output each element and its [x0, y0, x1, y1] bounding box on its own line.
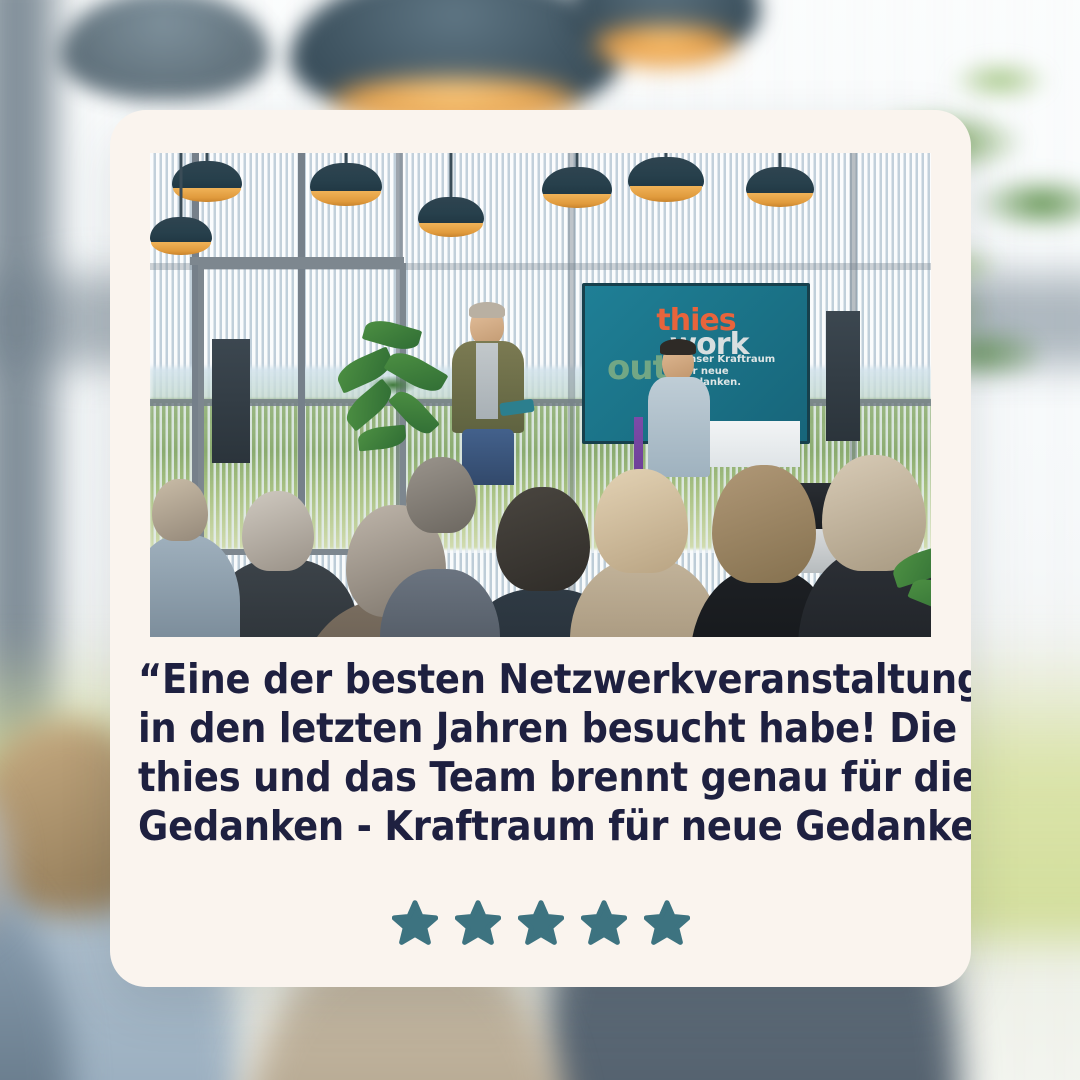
background-lamp-3 — [60, 0, 270, 100]
audience-head — [406, 457, 476, 533]
quote-line-4: Gedanken - Kraftraum für neue Gedanken!” — [138, 802, 943, 851]
audience-head — [152, 479, 208, 541]
lamp-rod — [180, 153, 183, 219]
audience-head — [822, 455, 926, 571]
lamp-rim-light — [419, 223, 482, 237]
lamp-glow — [593, 26, 737, 67]
quote-line-3: thies und das Team brennt genau für dies… — [138, 753, 943, 802]
photo-lamp — [310, 163, 382, 213]
photo-lamp — [150, 217, 212, 261]
photo-door-header — [190, 257, 404, 265]
presenter-hair — [660, 339, 696, 355]
photo-audience — [150, 439, 931, 637]
star-icon — [455, 900, 501, 946]
star-icon — [644, 900, 690, 946]
testimonial-card: thies work out Unser Kraftraum für neue … — [110, 110, 971, 987]
lamp-rod — [450, 153, 453, 197]
plant-leaf — [362, 316, 422, 355]
quote-line-2: in den letzten Jahren besucht habe! Die … — [138, 704, 943, 753]
star-icon — [518, 900, 564, 946]
lamp-rim-light — [311, 191, 380, 206]
testimonial-card-stage: thies work out Unser Kraftraum für neue … — [0, 0, 1080, 1080]
photo-lamp — [418, 197, 484, 243]
testimonial-quote: “Eine der besten Netzwerkveranstaltung, … — [110, 655, 971, 851]
audience-head — [242, 491, 314, 571]
star-icon — [392, 900, 438, 946]
photo-lamp — [746, 167, 814, 214]
quote-line-1: “Eine der besten Netzwerkveranstaltung, … — [138, 655, 943, 704]
lamp-rim-light — [151, 242, 211, 255]
photo-plant — [328, 315, 458, 455]
lamp-rim-light — [173, 188, 240, 202]
audience-shoulders — [150, 535, 240, 637]
audience-head — [594, 469, 688, 573]
photo-lamp — [542, 167, 612, 215]
photo-speaker-box — [826, 311, 860, 441]
presenter-shirt — [476, 343, 498, 419]
lamp-rim-light — [630, 186, 703, 202]
audience-head — [496, 487, 590, 591]
lamp-rim-light — [747, 193, 812, 207]
plant-leaf — [384, 346, 449, 399]
presenter-hair — [469, 302, 505, 318]
star-rating — [110, 900, 971, 946]
star-icon — [581, 900, 627, 946]
photo-lamp — [628, 157, 704, 209]
photo-lamp — [172, 161, 242, 209]
audience-head — [712, 465, 816, 583]
background-lamp-2 — [570, 0, 760, 60]
event-photo: thies work out Unser Kraftraum für neue … — [150, 153, 931, 637]
lamp-rim-light — [543, 194, 610, 208]
